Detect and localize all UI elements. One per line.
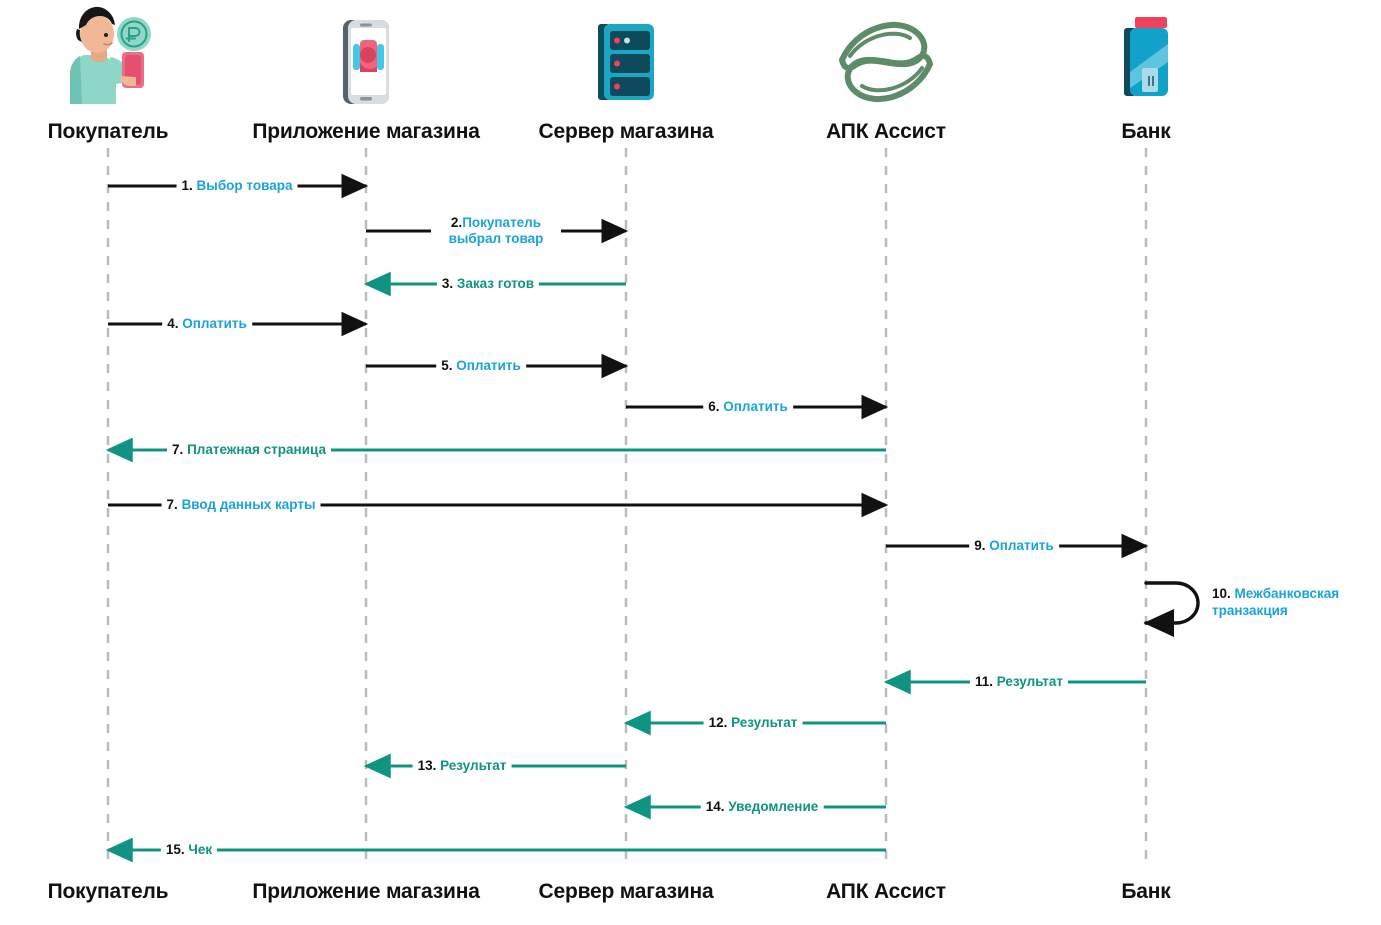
message-label-6: 6. Оплатить — [703, 399, 793, 415]
actor-label-top-app: Приложение магазина — [252, 120, 479, 144]
actor-label-top-server: Сервер магазина — [539, 120, 714, 144]
smartphone-icon — [343, 20, 389, 104]
message-label-4: 4. Оплатить — [162, 316, 252, 332]
server-rack-icon — [598, 24, 654, 100]
actor-label-bottom-assist: АПК Ассист — [826, 880, 946, 904]
actor-label-bottom-app: Приложение магазина — [252, 880, 479, 904]
actor-label-top-assist: АПК Ассист — [826, 120, 946, 144]
person-with-phone-icon — [70, 7, 151, 104]
actor-label-bottom-server: Сервер магазина — [539, 880, 714, 904]
message-label-7-card-data: 7. Ввод данных карты — [162, 497, 321, 513]
message-label-9: 9. Оплатить — [969, 538, 1059, 554]
bank-card-icon — [1124, 17, 1168, 96]
actor-label-top-buyer: Покупатель — [48, 120, 169, 144]
message-label-1: 1. Выбор товара — [177, 178, 298, 194]
actor-label-bottom-bank: Банк — [1121, 880, 1170, 904]
assist-leaf-logo-icon — [842, 25, 930, 99]
message-label-3: 3. Заказ готов — [437, 276, 539, 292]
message-label-15: 15. Чек — [161, 842, 217, 858]
actor-label-top-bank: Банк — [1121, 120, 1170, 144]
message-label-5: 5. Оплатить — [436, 358, 526, 374]
message-label-2: 2.Покупатель выбрал товар — [431, 215, 561, 247]
message-label-13: 13. Результат — [413, 758, 512, 774]
message-label-14: 14. Уведомление — [701, 799, 824, 815]
actor-label-bottom-buyer: Покупатель — [48, 880, 169, 904]
message-label-12: 12. Результат — [704, 715, 803, 731]
self-message-label-10: 10. Межбанковская транзакция — [1212, 585, 1372, 619]
message-label-11: 11. Результат — [970, 674, 1068, 690]
message-label-7-payment-page: 7. Платежная страница — [167, 442, 331, 458]
self-message-arc-10 — [1146, 583, 1198, 623]
